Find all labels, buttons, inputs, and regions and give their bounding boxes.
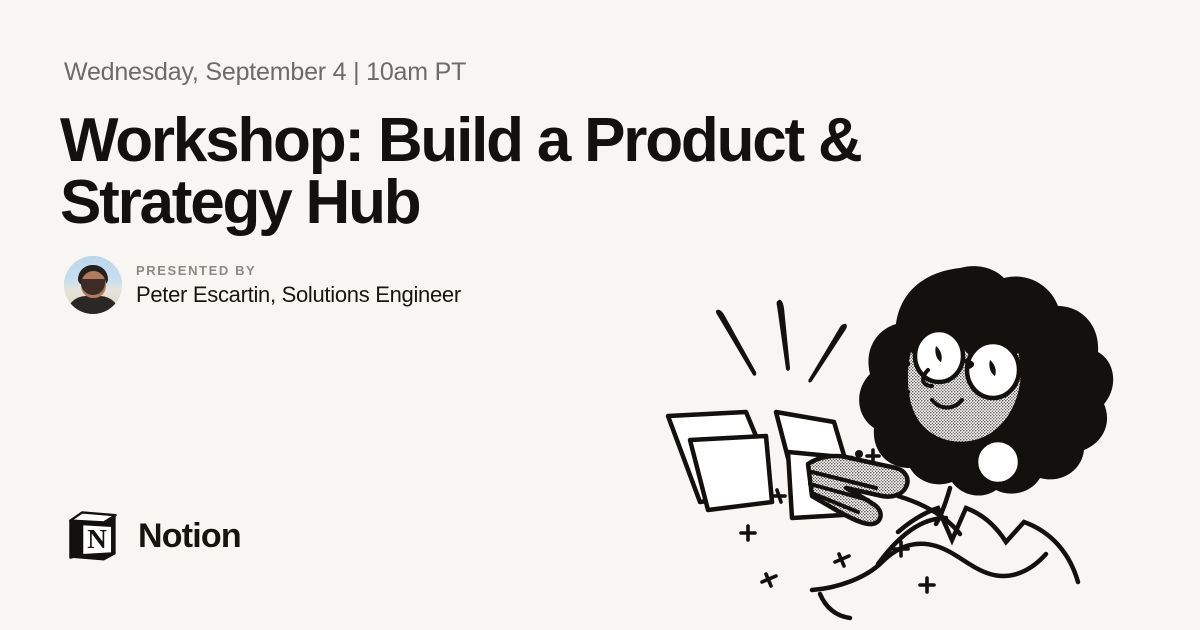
- shirt-dot: [855, 450, 863, 458]
- presenter-text: PRESENTED BY Peter Escartin, Solutions E…: [136, 263, 461, 308]
- earring: [976, 440, 1020, 484]
- notion-logo-letter: N: [87, 524, 107, 554]
- presenter-block: PRESENTED BY Peter Escartin, Solutions E…: [64, 256, 461, 314]
- shirt: [812, 508, 1078, 618]
- arm: [898, 496, 960, 534]
- excitement-lines: [716, 300, 847, 383]
- person-reading-book-illustration: [660, 196, 1200, 630]
- presented-by-label: PRESENTED BY: [136, 263, 461, 278]
- event-date: Wednesday, September 4 | 10am PT: [64, 58, 466, 87]
- promo-graphic: Wednesday, September 4 | 10am PT Worksho…: [0, 0, 1200, 630]
- presenter-name: Peter Escartin, Solutions Engineer: [136, 282, 461, 308]
- notion-cube-icon: N: [64, 507, 122, 565]
- brand-name: Notion: [138, 517, 241, 556]
- avatar: [64, 256, 122, 314]
- brand-lockup: N Notion: [64, 507, 241, 565]
